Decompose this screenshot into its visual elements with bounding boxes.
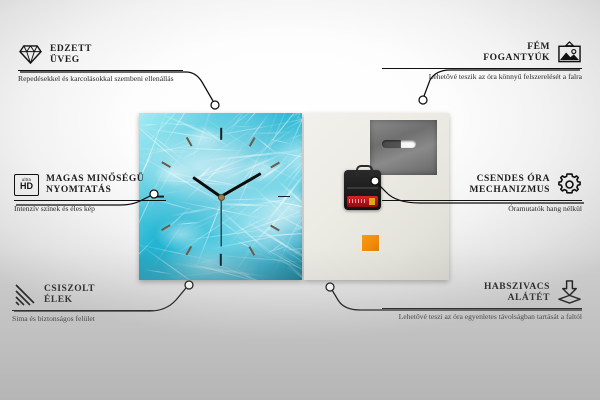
callout-title: EDZETT ÜVEG — [50, 44, 92, 66]
leader-dot-foam — [326, 283, 334, 291]
callout-header: CSISZOLT ÉLEK — [12, 282, 212, 307]
callout-divider — [18, 70, 183, 71]
infographic-canvas: EDZETT ÜVEG Repedésekkel és karcolásokka… — [0, 0, 600, 400]
callout-metal-hooks: FÉM FOGANTYÚK Lehetővé teszik az óra kön… — [382, 40, 582, 83]
callout-title-line1: MAGAS MINŐSÉGŰ — [46, 174, 144, 184]
callout-header: EDZETT ÜVEG — [18, 42, 218, 67]
battery-part — [347, 196, 378, 207]
ultra-hd-icon: ultra HD — [14, 172, 39, 197]
callout-title-line2: ÜVEG — [50, 55, 80, 65]
callout-title-line2: ÉLEK — [44, 295, 73, 305]
diamond-icon — [18, 42, 43, 67]
callout-title-line1: CSISZOLT — [44, 284, 95, 294]
callout-title: CSENDES ÓRA MECHANIZMUS — [470, 174, 550, 196]
battery-label-stripes — [349, 199, 367, 203]
callout-title-line1: EDZETT — [50, 44, 92, 54]
callout-header: FÉM FOGANTYÚK — [382, 40, 582, 65]
callout-title: HABSZIVACS ALÁTÉT — [484, 282, 550, 304]
callout-header: CSENDES ÓRA MECHANIZMUS — [382, 172, 582, 197]
clock-mechanism-part — [344, 170, 381, 210]
clock-tick — [220, 253, 222, 265]
callout-foam-pad: HABSZIVACS ALÁTÉT Lehetővé teszi az óra … — [382, 280, 582, 323]
callout-title: MAGAS MINŐSÉGŰ NYOMTATÁS — [46, 174, 144, 196]
hanger-slot — [382, 140, 416, 148]
metal-hanger-part — [370, 120, 437, 175]
callout-title-line2: FOGANTYÚK — [483, 53, 550, 63]
callout-polished-edges: CSISZOLT ÉLEK Sima és biztonságos felüle… — [12, 282, 212, 325]
callout-high-quality-print: ultra HD MAGAS MINŐSÉGŰ NYOMTATÁS Intenz… — [14, 172, 214, 215]
polished-edges-icon — [12, 282, 37, 307]
battery-terminal — [369, 198, 375, 205]
picture-hanger-icon — [557, 40, 582, 65]
callout-title-line2: ALÁTÉT — [508, 293, 550, 303]
mechanism-loop — [356, 165, 373, 176]
gear-icon — [557, 172, 582, 197]
ultra-hd-badge: ultra HD — [14, 174, 39, 196]
callout-subtitle: Sima és biztonságos felület — [12, 314, 212, 325]
callout-quiet-mechanism: CSENDES ÓRA MECHANIZMUS Óramutatók hang … — [382, 172, 582, 215]
leader-dot-hooks — [419, 96, 427, 104]
leader-dot-tempered-glass — [211, 101, 219, 109]
callout-header: ultra HD MAGAS MINŐSÉGŰ NYOMTATÁS — [14, 172, 214, 197]
callout-title-line1: HABSZIVACS — [484, 282, 550, 292]
clock-tick — [220, 127, 222, 139]
callout-title: CSISZOLT ÉLEK — [44, 284, 95, 306]
callout-divider — [382, 68, 582, 69]
callout-divider — [382, 308, 582, 309]
foam-pad-arrow-icon — [557, 280, 582, 305]
clock-second-hand — [220, 196, 221, 246]
callout-title: FÉM FOGANTYÚK — [483, 42, 550, 64]
callout-title-line1: CSENDES ÓRA — [477, 174, 550, 184]
ultra-hd-main-text: HD — [20, 182, 33, 191]
callout-tempered-glass: EDZETT ÜVEG Repedésekkel és karcolásokka… — [18, 42, 218, 85]
callout-subtitle: Intenzív színek és éles kép — [14, 204, 214, 215]
callout-divider — [382, 200, 582, 201]
callout-divider — [14, 200, 166, 201]
callout-header: HABSZIVACS ALÁTÉT — [382, 280, 582, 305]
callout-divider — [12, 310, 154, 311]
foam-pad-part — [362, 235, 379, 251]
callout-title-line2: MECHANIZMUS — [470, 185, 550, 195]
clock-tick — [278, 196, 290, 198]
callout-title-line2: NYOMTATÁS — [46, 185, 111, 195]
callout-subtitle: Lehetővé teszi az óra egyenletes távolsá… — [382, 312, 582, 323]
mechanism-seam — [347, 187, 378, 189]
callout-subtitle: Óramutatók hang nélkül — [382, 204, 582, 215]
clock-center-hub — [218, 194, 225, 201]
callout-subtitle: Repedésekkel és karcolásokkal szembeni e… — [18, 74, 218, 85]
callout-title-line1: FÉM — [527, 42, 550, 52]
callout-subtitle: Lehetővé teszik az óra könnyű felszerelé… — [382, 72, 582, 83]
